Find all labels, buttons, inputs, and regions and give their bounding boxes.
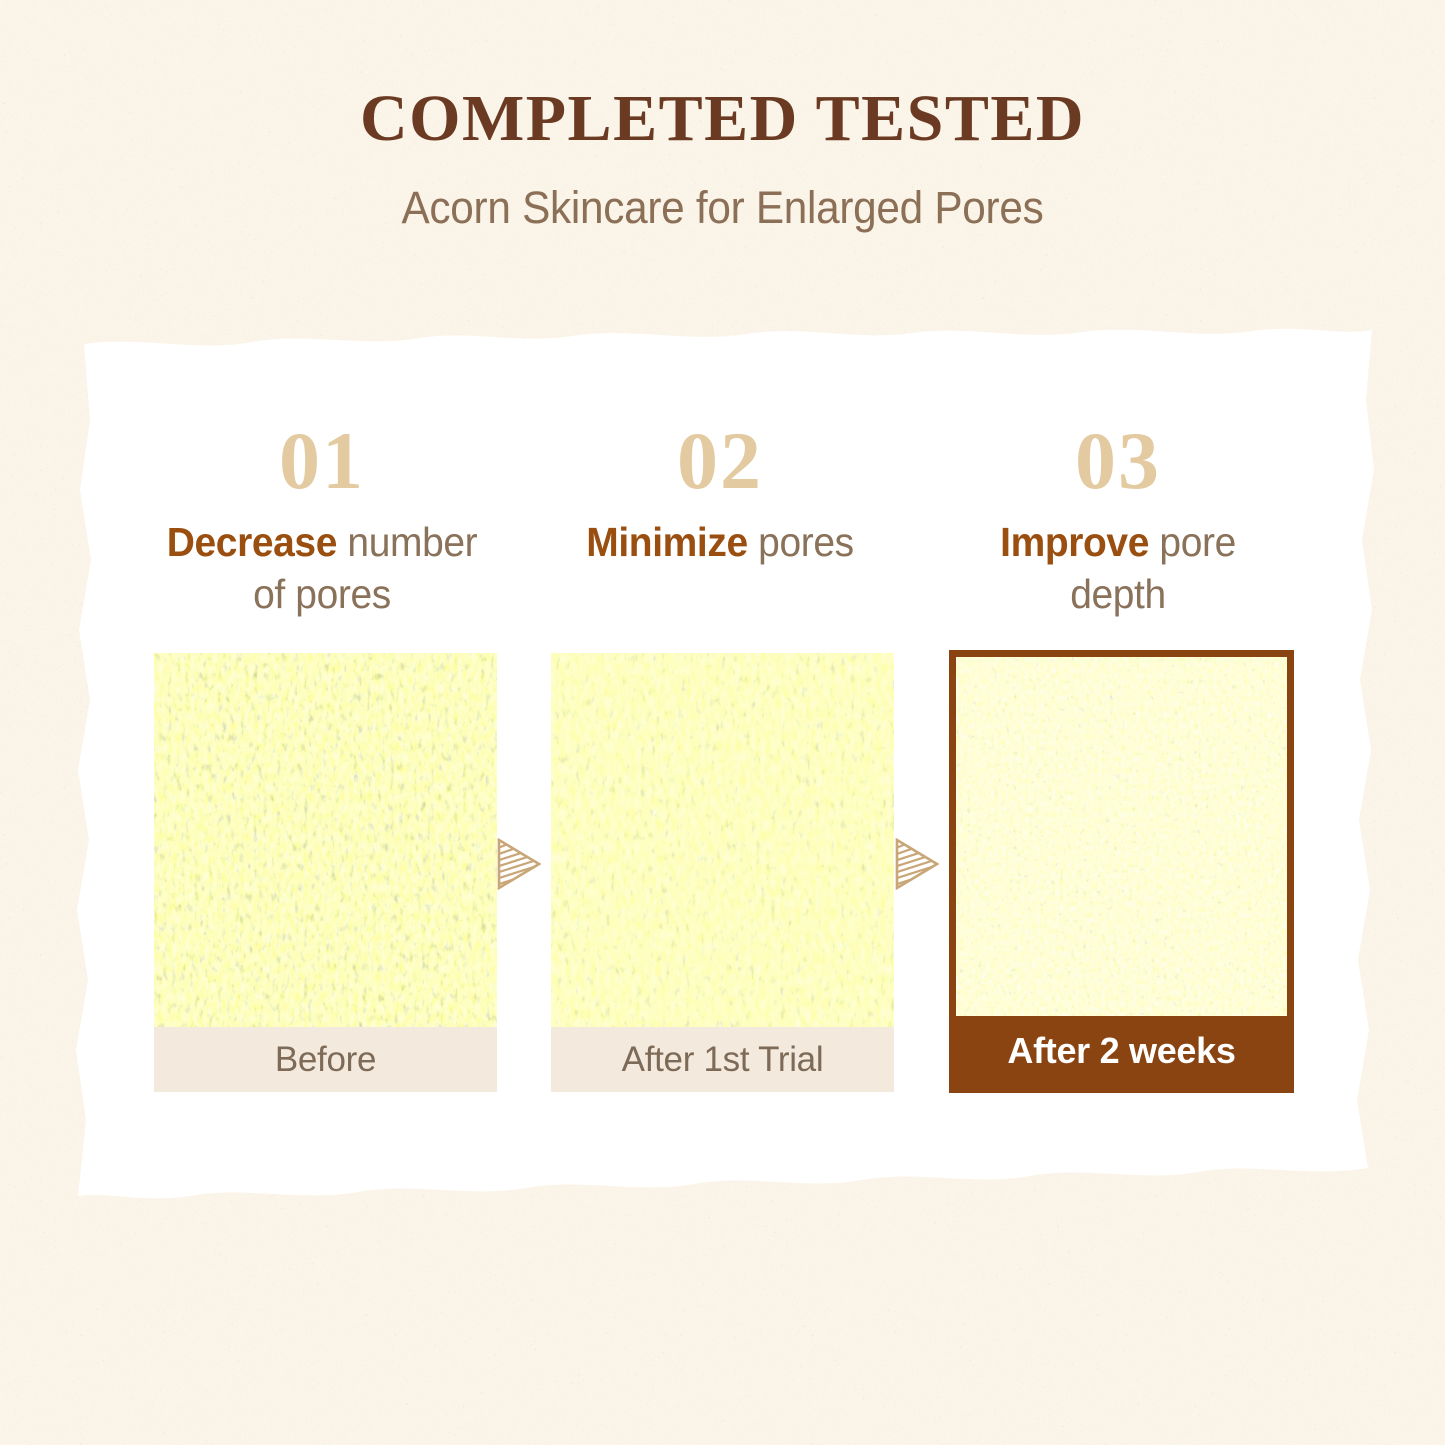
step-number-3: 03 xyxy=(944,420,1292,502)
caption-before: Before xyxy=(154,1027,497,1092)
skin-image-before xyxy=(154,653,497,1027)
skin-panel-after-two-weeks: After 2 weeks xyxy=(949,650,1294,1093)
step-number-1: 01 xyxy=(148,420,496,502)
step-emphasis-1: Decrease xyxy=(167,519,337,565)
skin-image-after-first-trial xyxy=(551,653,894,1027)
skin-panel-after-first-trial: After 1st Trial xyxy=(551,653,894,1092)
step-column-1: 01 Decrease number of pores xyxy=(148,420,496,621)
step-emphasis-2: Minimize xyxy=(586,519,747,565)
arrow-step-1-to-2-icon xyxy=(497,838,541,890)
content-area: 01 Decrease number of pores 02 Minimize … xyxy=(0,0,1445,1445)
caption-after-first-trial: After 1st Trial xyxy=(551,1027,894,1092)
step-label-3: Improve pore depth xyxy=(953,516,1284,621)
step-emphasis-3: Improve xyxy=(1000,519,1149,565)
arrow-step-2-to-3-icon xyxy=(895,838,939,890)
step-number-2: 02 xyxy=(546,420,894,502)
step-rest-2: pores xyxy=(748,519,854,565)
step-label-1: Decrease number of pores xyxy=(157,516,488,621)
skin-panel-before: Before xyxy=(154,653,497,1092)
step-label-2: Minimize pores xyxy=(555,516,886,568)
step-column-3: 03 Improve pore depth xyxy=(944,420,1292,621)
skin-image-after-two-weeks xyxy=(956,657,1287,1027)
caption-after-two-weeks: After 2 weeks xyxy=(956,1016,1287,1086)
step-column-2: 02 Minimize pores xyxy=(546,420,894,568)
